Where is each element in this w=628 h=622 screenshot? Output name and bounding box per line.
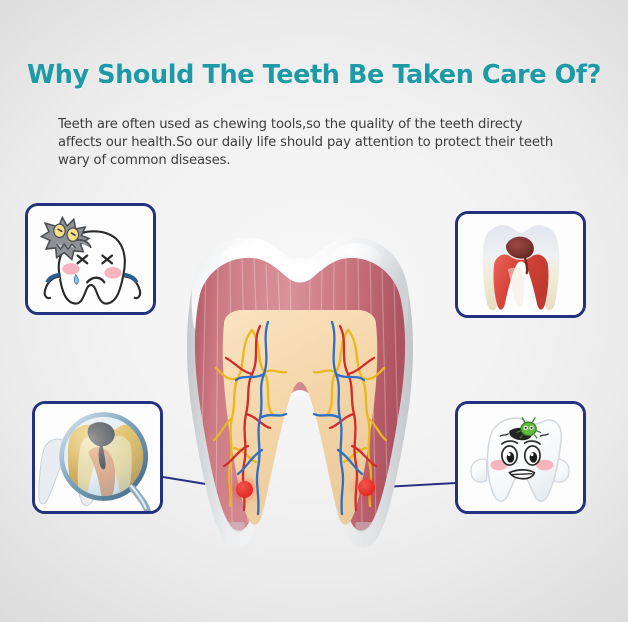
infographic-poster: Why Should The Teeth Be Taken Care Of? T… bbox=[0, 0, 628, 622]
page-title: Why Should The Teeth Be Taken Care Of? bbox=[0, 60, 628, 90]
mouth-teeth-line bbox=[511, 474, 532, 475]
germ-attacking-sad-tooth-illustration bbox=[28, 206, 153, 313]
eye-glint-right bbox=[530, 453, 533, 456]
molar-cross-section-diagram bbox=[176, 222, 424, 552]
left-root-marker[interactable] bbox=[236, 481, 253, 498]
right-root-marker[interactable] bbox=[358, 479, 375, 496]
callout-top-right[interactable] bbox=[455, 211, 586, 318]
worried-tooth-with-green-germ-illustration bbox=[458, 404, 583, 512]
callout-top-left[interactable] bbox=[25, 203, 156, 315]
blush-left bbox=[62, 263, 79, 274]
magnifying-glass-over-cavity-illustration bbox=[35, 404, 160, 512]
eye-glint-left bbox=[508, 453, 511, 456]
tooth-arm-left bbox=[471, 459, 487, 482]
intro-paragraph: Teeth are often used as chewing tools,so… bbox=[58, 116, 558, 170]
callout-bottom-right[interactable] bbox=[455, 401, 586, 514]
callout-bottom-left[interactable] bbox=[32, 401, 163, 514]
tooth-cross-section-with-decay-photo bbox=[458, 214, 583, 316]
blush-right bbox=[104, 267, 121, 278]
